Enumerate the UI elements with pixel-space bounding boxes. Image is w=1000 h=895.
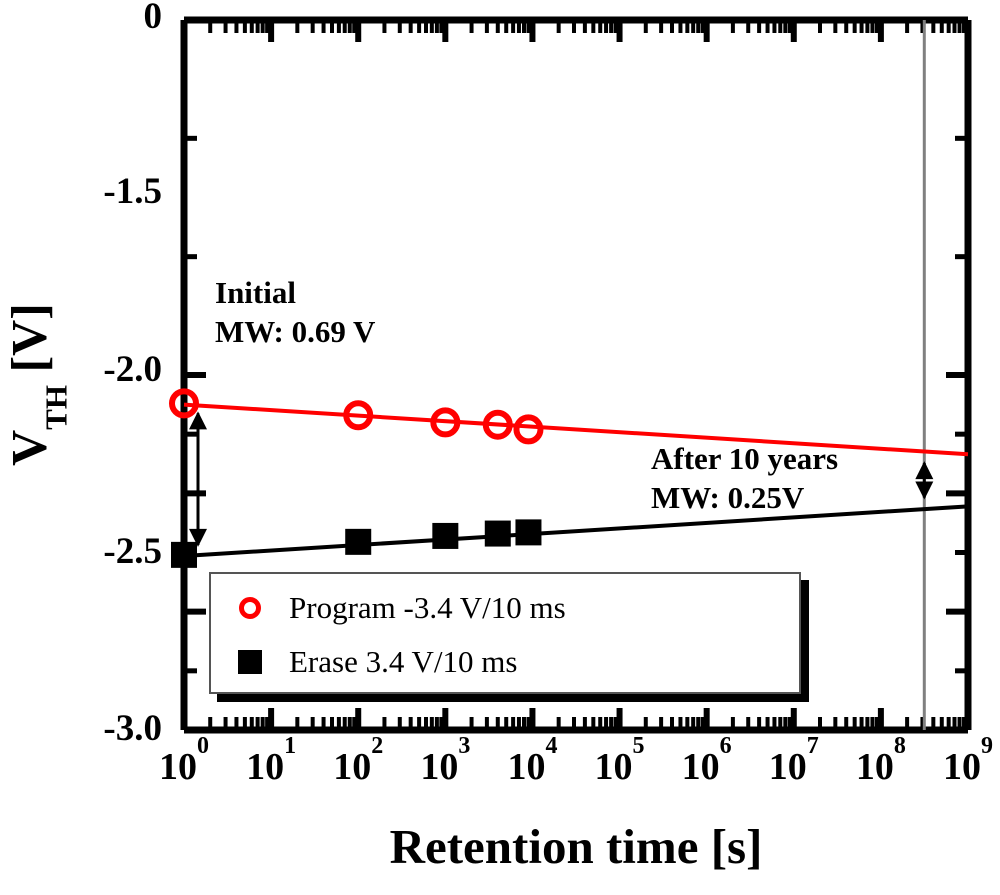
legend-item-program[interactable]: Program -3.4 V/10 ms [211, 582, 566, 634]
legend-item-erase[interactable]: Erase 3.4 V/10 ms [211, 636, 517, 688]
y-axis-title: VTH [V] [0, 175, 65, 595]
y-axis-title-subscript: TH [39, 385, 74, 430]
x-tick-label-1e4: 104 [490, 745, 574, 789]
x-tick-label-1e2: 102 [316, 745, 400, 789]
x-tick-base: 10 [333, 746, 371, 788]
x-tick-exponent: 8 [894, 733, 906, 759]
x-tick-exponent: 7 [807, 733, 819, 759]
y-tick-label-2_5: -2.5 [60, 530, 162, 573]
x-tick-label-1e8: 108 [839, 745, 923, 789]
x-tick-base: 10 [943, 746, 981, 788]
x-tick-exponent: 3 [458, 733, 470, 759]
x-tick-base: 10 [507, 746, 545, 788]
y-tick-label-1_5: -1.5 [60, 170, 162, 213]
x-tick-base: 10 [856, 746, 894, 788]
x-tick-label-1e5: 105 [578, 745, 662, 789]
x-tick-base: 10 [159, 746, 197, 788]
x-tick-exponent: 6 [720, 733, 732, 759]
legend-marker-filled-square-icon [211, 650, 289, 674]
annotation-after10y-line1: After 10 years [651, 440, 838, 479]
x-tick-exponent: 1 [284, 733, 296, 759]
annotation-after-10-years-mw: After 10 years MW: 0.25V [651, 440, 838, 518]
legend-label-program: Program -3.4 V/10 ms [289, 590, 566, 626]
x-tick-label-1e3: 103 [403, 745, 487, 789]
x-tick-label-1e0: 100 [142, 745, 226, 789]
y-tick-label-2_0: -2.0 [60, 348, 162, 391]
y-tick-label-3_0: -3.0 [60, 707, 162, 750]
x-axis-title: Retention time [s] [184, 818, 968, 875]
x-tick-base: 10 [682, 746, 720, 788]
x-tick-exponent: 9 [981, 733, 993, 759]
retention-chart: 0 -1.5 -2.0 -2.5 -3.0 VTH [V] 1001011021… [0, 0, 1000, 895]
x-tick-base: 10 [769, 746, 807, 788]
annotation-initial-line1: Initial [215, 274, 375, 313]
x-tick-label-1e6: 106 [665, 745, 749, 789]
x-tick-exponent: 2 [371, 733, 383, 759]
x-tick-base: 10 [420, 746, 458, 788]
y-axis-title-base: V [1, 430, 57, 466]
x-tick-label-1e9: 109 [926, 745, 1000, 789]
annotation-initial-mw: Initial MW: 0.69 V [215, 274, 375, 352]
x-tick-base: 10 [595, 746, 633, 788]
x-tick-exponent: 5 [633, 733, 645, 759]
y-axis-title-unit: [V] [1, 303, 57, 385]
x-tick-base: 10 [246, 746, 284, 788]
legend-label-erase: Erase 3.4 V/10 ms [289, 644, 517, 680]
annotation-after10y-line2: MW: 0.25V [651, 479, 838, 518]
x-tick-exponent: 4 [545, 733, 557, 759]
x-tick-label-1e1: 101 [229, 745, 313, 789]
annotation-initial-line2: MW: 0.69 V [215, 313, 375, 352]
x-tick-label-1e7: 107 [752, 745, 836, 789]
x-tick-exponent: 0 [197, 733, 209, 759]
legend: Program -3.4 V/10 ms Erase 3.4 V/10 ms [209, 572, 801, 694]
legend-marker-open-circle-icon [211, 597, 289, 619]
y-tick-label-0: 0 [100, 0, 162, 38]
